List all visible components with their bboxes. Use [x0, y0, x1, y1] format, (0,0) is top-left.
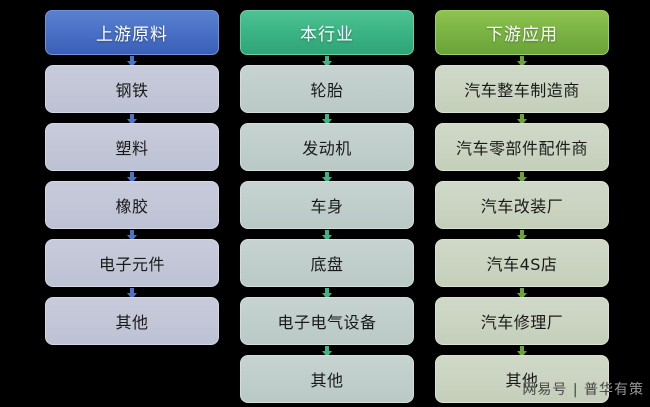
chip-downstream-2[interactable]: 汽车改装厂	[435, 181, 609, 229]
chip-industry-5[interactable]: 其他	[240, 355, 414, 403]
chip-label: 其他	[310, 367, 343, 391]
column-header-label: 下游应用	[486, 20, 558, 45]
column-industry: 本行业 轮胎发动机车身底盘电子电气设备其他	[240, 0, 414, 407]
watermark: 网易号 | 普华有策	[522, 379, 644, 399]
chip-label: 电子元件	[99, 251, 165, 275]
chip-label: 塑料	[115, 135, 148, 159]
chip-label: 发动机	[302, 135, 352, 159]
chip-downstream-3[interactable]: 汽车4S店	[435, 239, 609, 287]
chip-industry-2[interactable]: 车身	[240, 181, 414, 229]
chip-label: 底盘	[310, 251, 343, 275]
column-upstream: 上游原料 钢铁塑料橡胶电子元件其他	[45, 0, 219, 407]
chip-industry-1[interactable]: 发动机	[240, 123, 414, 171]
column-header-industry[interactable]: 本行业	[240, 10, 414, 55]
chip-label: 钢铁	[115, 77, 148, 101]
chip-industry-0[interactable]: 轮胎	[240, 65, 414, 113]
chip-label: 其他	[115, 309, 148, 333]
chip-upstream-2[interactable]: 橡胶	[45, 181, 219, 229]
chip-label: 橡胶	[115, 193, 148, 217]
column-header-upstream[interactable]: 上游原料	[45, 10, 219, 55]
column-header-label: 上游原料	[96, 20, 168, 45]
chip-label: 汽车修理厂	[481, 309, 564, 333]
chip-industry-4[interactable]: 电子电气设备	[240, 297, 414, 345]
chip-upstream-1[interactable]: 塑料	[45, 123, 219, 171]
column-downstream: 下游应用 汽车整车制造商汽车零部件配件商汽车改装厂汽车4S店汽车修理厂其他	[435, 0, 609, 407]
chip-industry-3[interactable]: 底盘	[240, 239, 414, 287]
chip-downstream-0[interactable]: 汽车整车制造商	[435, 65, 609, 113]
chip-label: 轮胎	[310, 77, 343, 101]
chip-downstream-4[interactable]: 汽车修理厂	[435, 297, 609, 345]
chip-label: 汽车4S店	[487, 251, 558, 275]
column-header-label: 本行业	[300, 20, 354, 45]
column-header-downstream[interactable]: 下游应用	[435, 10, 609, 55]
chip-upstream-3[interactable]: 电子元件	[45, 239, 219, 287]
chip-downstream-1[interactable]: 汽车零部件配件商	[435, 123, 609, 171]
chip-label: 车身	[310, 193, 343, 217]
chip-label: 电子电气设备	[277, 309, 376, 333]
chip-label: 汽车整车制造商	[464, 77, 580, 101]
chip-label: 汽车改装厂	[481, 193, 564, 217]
diagram-canvas: 上游原料 钢铁塑料橡胶电子元件其他 本行业 轮胎发动机车身底盘电子电气设备其他 …	[0, 0, 650, 407]
chip-label: 汽车零部件配件商	[456, 135, 588, 159]
chip-upstream-0[interactable]: 钢铁	[45, 65, 219, 113]
chip-upstream-4[interactable]: 其他	[45, 297, 219, 345]
